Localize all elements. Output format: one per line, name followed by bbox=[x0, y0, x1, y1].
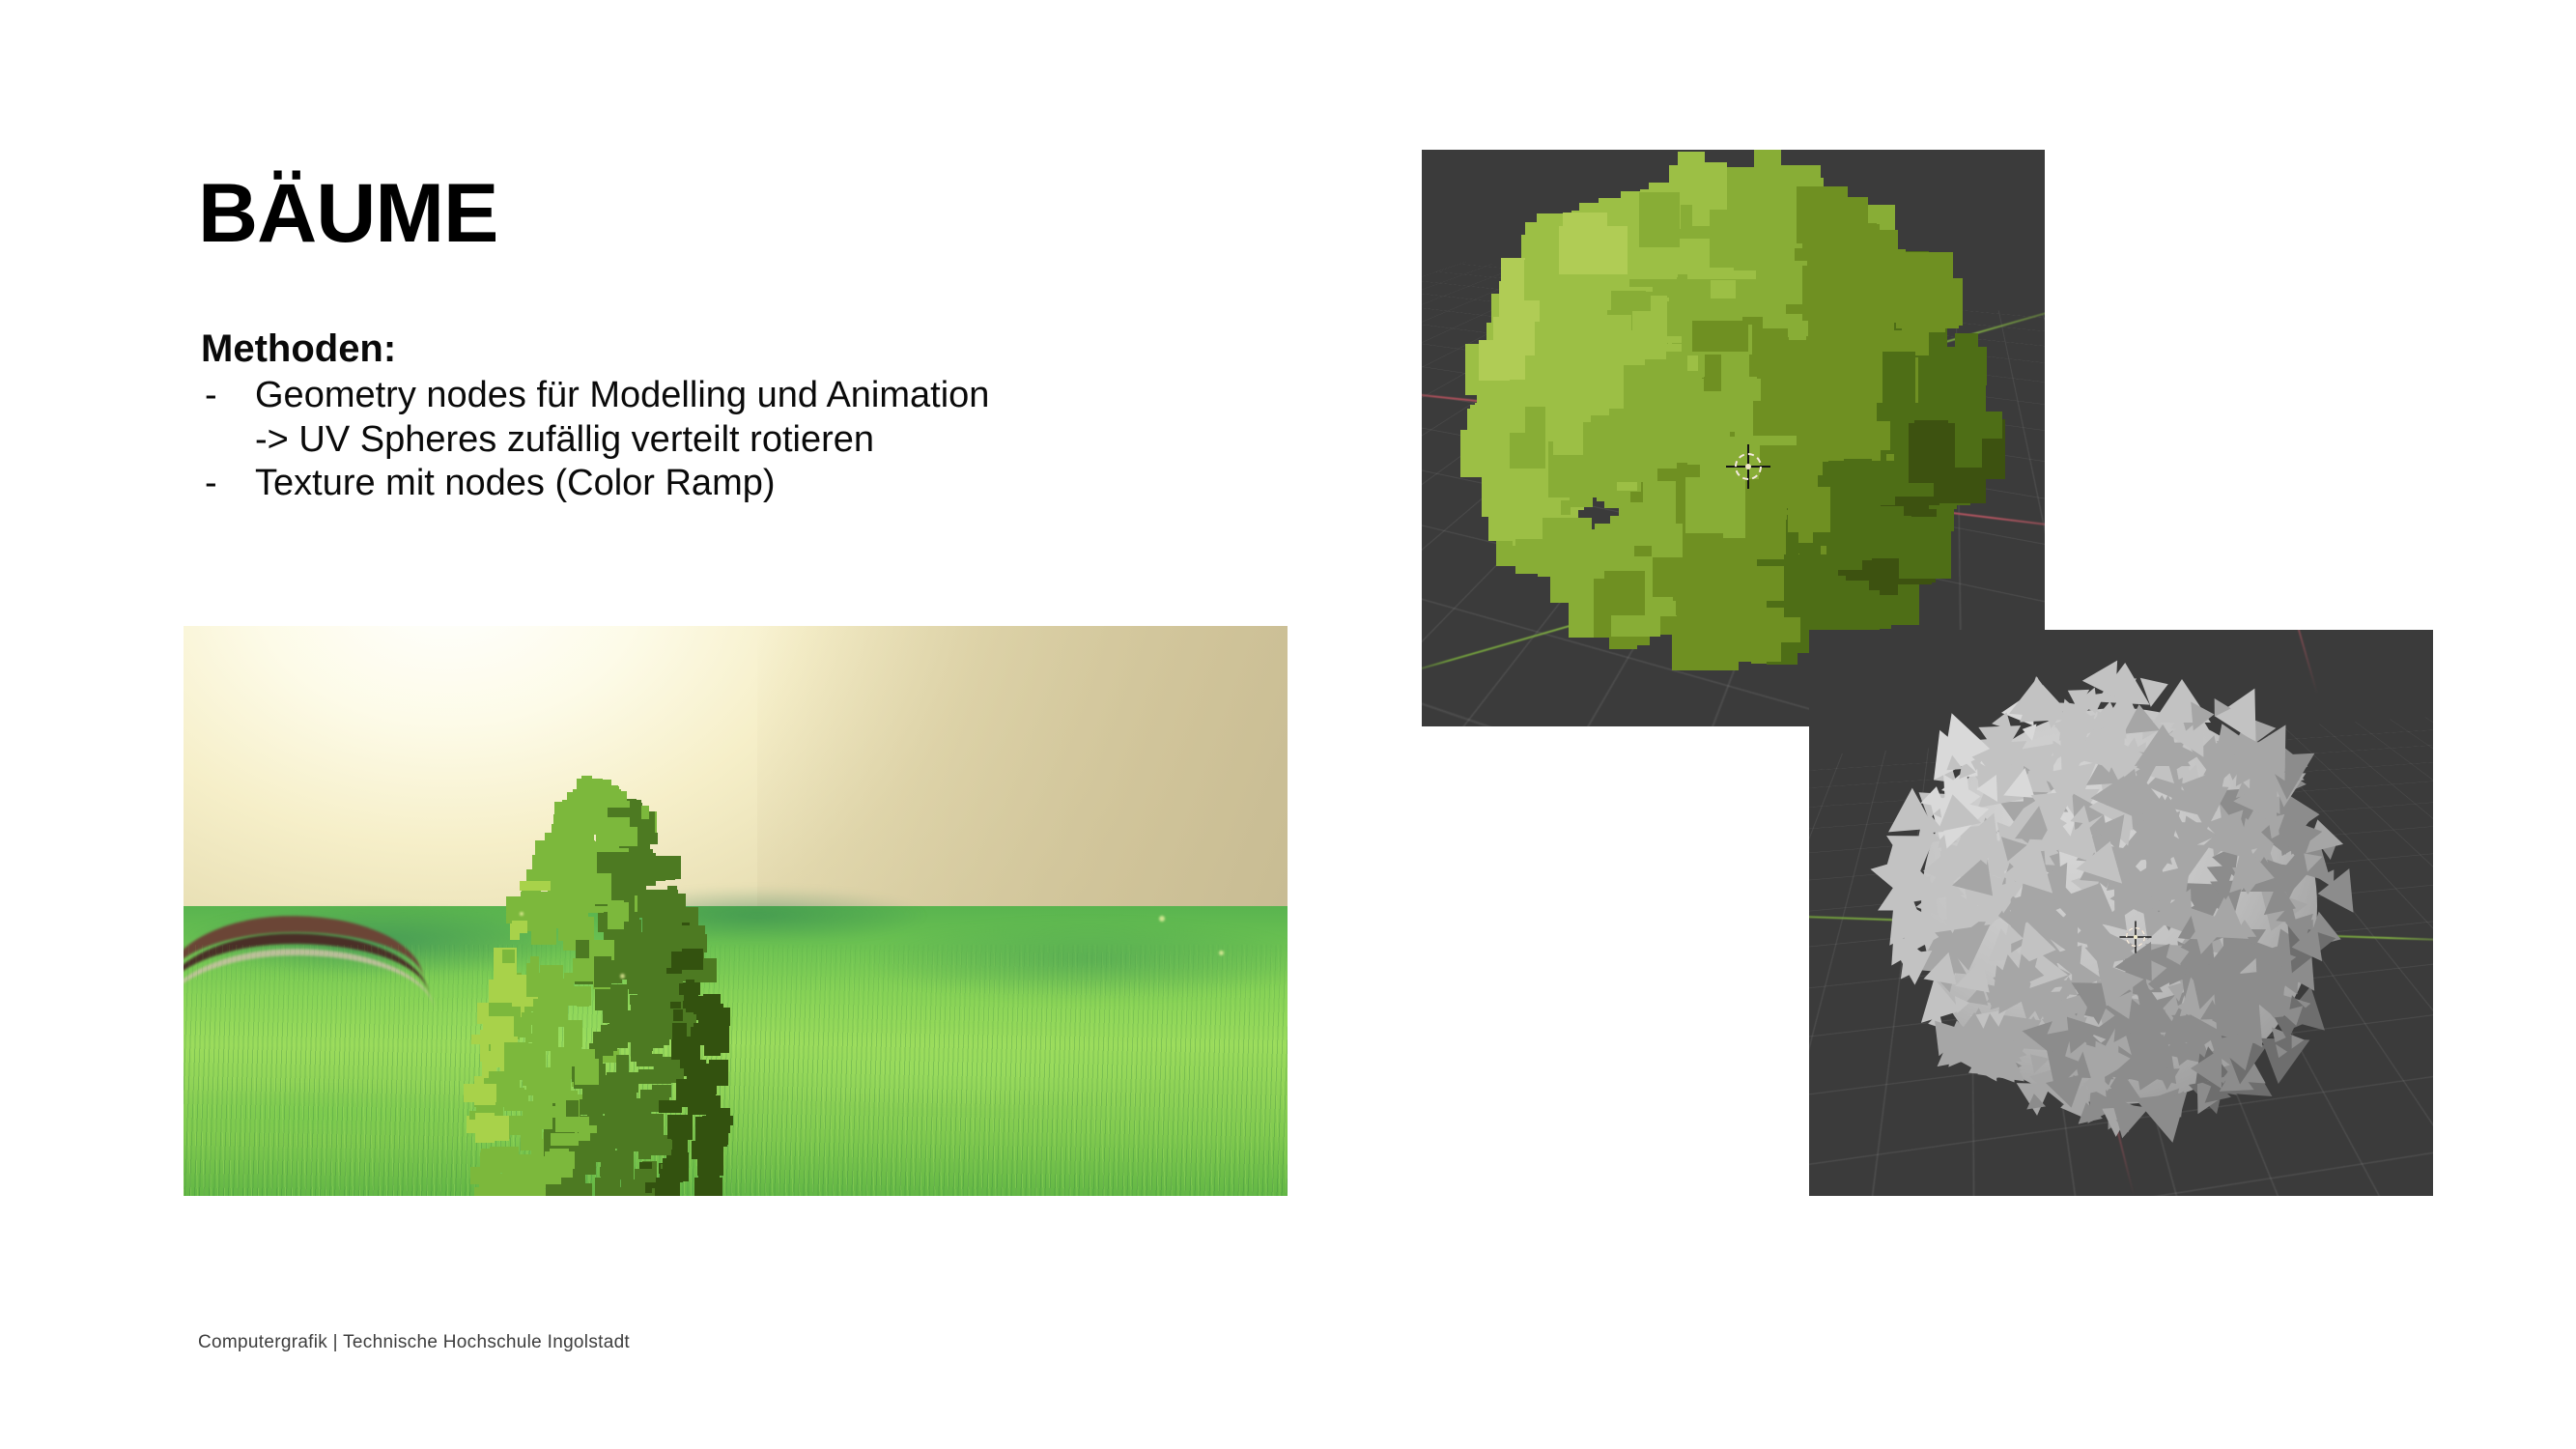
landscape-render-image bbox=[184, 626, 1288, 1196]
tree-foliage-face bbox=[707, 1150, 722, 1160]
tree-foliage-face bbox=[480, 1152, 514, 1170]
tree-foliage-face bbox=[613, 1151, 629, 1179]
tree-foliage-face bbox=[577, 992, 589, 1007]
tree-foliage-face bbox=[615, 1023, 631, 1042]
foliage-face bbox=[1475, 403, 1526, 433]
tree-foliage-face bbox=[512, 921, 526, 933]
tree-foliage-face bbox=[583, 790, 609, 805]
foliage-face bbox=[1710, 210, 1767, 268]
tree-foliage-face bbox=[687, 1075, 717, 1094]
foliage-face bbox=[1784, 554, 1837, 617]
clay-face-triangle bbox=[2081, 1068, 2106, 1099]
pollen-dot bbox=[1219, 951, 1224, 955]
tree-foliage-face bbox=[667, 1115, 693, 1140]
blender-3d-cursor bbox=[2119, 921, 2151, 952]
foliage-face bbox=[1493, 498, 1543, 540]
foliage-face bbox=[1721, 353, 1749, 401]
tree-foliage-face bbox=[663, 915, 682, 936]
foliage-face bbox=[1479, 340, 1510, 381]
foliage-face bbox=[1938, 347, 1987, 385]
tree-foliage-face bbox=[610, 1099, 630, 1109]
clay-face-triangle bbox=[2230, 867, 2267, 895]
tree-foliage-face bbox=[471, 1035, 499, 1044]
tree-foliage-face bbox=[550, 918, 579, 928]
presentation-slide: BÄUME Methoden: - Geometry nodes für Mod… bbox=[0, 0, 2576, 1449]
pollen-dot bbox=[520, 912, 524, 916]
foliage-face bbox=[1882, 352, 1915, 406]
clay-face-triangle bbox=[2242, 724, 2285, 781]
foliage-face bbox=[1639, 192, 1680, 247]
foliage-face bbox=[1799, 355, 1862, 397]
clay-face-triangle bbox=[2059, 699, 2096, 746]
clay-face-triangle bbox=[1999, 974, 2033, 1016]
tree-foliage-face bbox=[634, 999, 656, 1033]
tree-foliage-face bbox=[526, 963, 538, 997]
low-poly-tree bbox=[473, 781, 753, 1196]
tree-foliage-face bbox=[672, 1023, 688, 1041]
foliage-face bbox=[1643, 481, 1676, 529]
foliage-face bbox=[1692, 321, 1748, 352]
tree-foliage-face bbox=[502, 1168, 520, 1196]
pollen-dot bbox=[620, 974, 625, 979]
tree-foliage-face bbox=[684, 1064, 717, 1077]
tree-foliage-face bbox=[484, 1116, 509, 1141]
tree-foliage-face bbox=[617, 1130, 639, 1151]
foliage-face bbox=[1827, 286, 1875, 325]
tree-foliage-face bbox=[520, 881, 551, 891]
tree-foliage-face bbox=[698, 1163, 720, 1179]
foliage-face bbox=[1733, 620, 1781, 662]
foliage-face bbox=[1687, 421, 1718, 464]
tree-foliage-face bbox=[608, 808, 634, 817]
tree-foliage-face bbox=[502, 950, 515, 963]
bullet-marker-icon: - bbox=[201, 462, 255, 506]
tree-foliage-face bbox=[638, 1069, 671, 1084]
tree-foliage-face bbox=[525, 1034, 551, 1042]
tree-foliage-face bbox=[698, 1008, 730, 1026]
foliage-face bbox=[1914, 420, 1947, 470]
tree-foliage-face bbox=[593, 873, 611, 904]
tree-foliage-face bbox=[630, 932, 655, 944]
slide-footer: Computergrafik | Technische Hochschule I… bbox=[198, 1332, 630, 1353]
tree-foliage-face bbox=[709, 1025, 730, 1053]
tree-foliage-face bbox=[671, 1039, 700, 1060]
content-text-block: Methoden: - Geometry nodes für Modelling… bbox=[201, 327, 1360, 506]
foliage-face bbox=[1604, 330, 1667, 359]
foliage-face bbox=[1583, 415, 1651, 477]
tree-foliage-face bbox=[594, 956, 612, 986]
tree-foliage-face bbox=[694, 1178, 722, 1196]
tree-foliage-face bbox=[659, 1027, 670, 1044]
foliage-face bbox=[1753, 401, 1816, 436]
tree-foliage-face bbox=[504, 1042, 529, 1073]
tree-foliage-face bbox=[545, 833, 564, 852]
tree-foliage-face bbox=[554, 1052, 577, 1066]
tree-foliage-face bbox=[682, 949, 703, 970]
clay-face-triangle bbox=[1976, 775, 1997, 803]
blender-3d-cursor bbox=[1726, 444, 1770, 489]
cursor-center-dot bbox=[1745, 464, 1751, 469]
tree-foliage-face bbox=[523, 1101, 552, 1129]
foliage-face bbox=[1559, 226, 1628, 273]
clay-face-triangle bbox=[2135, 724, 2191, 766]
clay-sphere-mesh bbox=[1892, 674, 2346, 1138]
clay-face-triangle bbox=[1920, 814, 1944, 834]
tree-foliage-face bbox=[518, 1167, 544, 1193]
foliage-face bbox=[1808, 259, 1854, 285]
bullet-label: Geometry nodes für Modelling und Animati… bbox=[255, 374, 989, 418]
foliage-face bbox=[1767, 454, 1818, 507]
clay-face-triangle bbox=[2003, 923, 2024, 950]
foliage-face bbox=[1674, 246, 1702, 274]
tree-foliage-face bbox=[523, 1073, 553, 1086]
tree-foliage-face bbox=[562, 900, 594, 913]
foliage-face bbox=[1701, 581, 1734, 611]
cursor-center-dot bbox=[2134, 935, 2137, 939]
clay-face-triangle bbox=[2024, 1093, 2046, 1110]
bullet-label: -> UV Spheres zufällig verteilt rotieren bbox=[255, 418, 874, 463]
tree-foliage-face bbox=[575, 1049, 595, 1068]
tree-foliage-face bbox=[699, 1133, 728, 1145]
tree-foliage-face bbox=[652, 1085, 671, 1097]
tree-foliage-face bbox=[600, 1167, 609, 1177]
clay-face-triangle bbox=[2191, 699, 2215, 730]
tree-foliage-face bbox=[676, 1079, 690, 1107]
blender-viewport-clay[interactable] bbox=[1809, 630, 2433, 1196]
foliage-face bbox=[1604, 571, 1645, 614]
bullet-item-texture-nodes: - Texture mit nodes (Color Ramp) bbox=[201, 462, 1360, 506]
tree-foliage-face bbox=[548, 1008, 566, 1018]
tree-foliage-face bbox=[561, 1178, 583, 1196]
tree-foliage-face bbox=[607, 1072, 638, 1093]
bullet-marker-icon: - bbox=[201, 374, 255, 418]
bullet-label: Texture mit nodes (Color Ramp) bbox=[255, 462, 776, 506]
tree-foliage-face bbox=[579, 814, 593, 834]
tree-foliage-face bbox=[570, 890, 592, 901]
tree-foliage-face bbox=[544, 965, 563, 980]
methods-heading: Methoden: bbox=[201, 327, 1360, 372]
tree-foliage-face bbox=[579, 1141, 609, 1162]
tree-foliage-face bbox=[644, 1139, 670, 1155]
clay-face-triangle bbox=[1934, 730, 1978, 784]
foliage-face bbox=[1857, 469, 1891, 503]
bullet-item-uv-spheres: -> UV Spheres zufällig verteilt rotieren bbox=[201, 418, 1360, 463]
foliage-face bbox=[1546, 320, 1599, 366]
tree-foliage-face bbox=[635, 860, 661, 881]
clay-face-triangle bbox=[2152, 795, 2170, 810]
tree-foliage-face bbox=[622, 1179, 645, 1196]
foliage-sphere-mesh bbox=[1480, 159, 1982, 671]
foliage-face bbox=[1797, 186, 1847, 242]
bullet-item-geometry-nodes: - Geometry nodes für Modelling und Anima… bbox=[201, 374, 1360, 418]
pollen-dot bbox=[1159, 916, 1165, 922]
tree-foliage-face bbox=[464, 1084, 495, 1101]
tree-foliage-face bbox=[545, 1151, 575, 1169]
foliage-face bbox=[1896, 297, 1960, 328]
tree-foliage-face bbox=[619, 944, 628, 976]
tree-foliage-face bbox=[604, 830, 622, 839]
tree-foliage-face bbox=[555, 1117, 588, 1131]
tree-foliage-face bbox=[522, 1012, 544, 1024]
page-title: BÄUME bbox=[198, 172, 497, 255]
foliage-face bbox=[1515, 539, 1571, 575]
foliage-face bbox=[1838, 521, 1861, 570]
tree-foliage-face bbox=[565, 862, 587, 882]
tree-foliage-face bbox=[608, 900, 624, 929]
tree-foliage-face bbox=[608, 1024, 617, 1051]
tree-foliage-face bbox=[595, 1178, 620, 1193]
foliage-face bbox=[1554, 395, 1591, 422]
